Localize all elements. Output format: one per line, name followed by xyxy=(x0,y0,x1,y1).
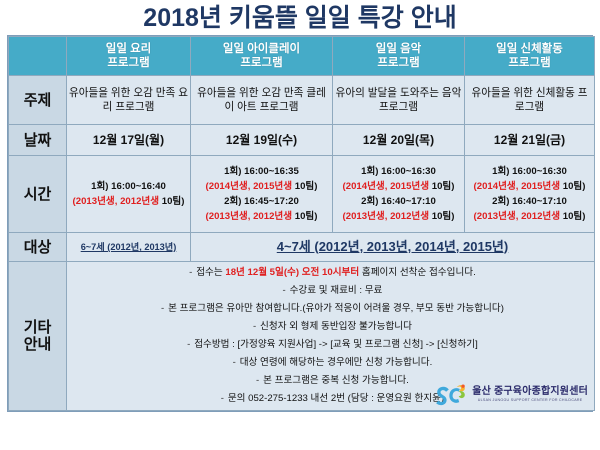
time-age-line: (2013년생, 2012년생 10팀) xyxy=(69,194,188,209)
date-cell-physical: 12월 21일(금) xyxy=(465,125,595,156)
program-table: 일일 요리 프로그램 일일 아이클레이 프로그램 일일 음악 프로그램 일일 신… xyxy=(8,36,595,411)
header-column-music: 일일 음악 프로그램 xyxy=(333,37,465,76)
time-age-text: (2014년생, 2015년생 xyxy=(343,181,430,192)
program-announcement-page: 2018년 키움뜰 일일 특강 안내 일일 요리 프로그램 일일 아이클 xyxy=(0,0,600,450)
date-cell-iclay: 12월 19일(수) xyxy=(191,125,333,156)
note-text: 문의 052-275-1233 내선 2번 (담당 : 운영요원 한지윤) xyxy=(228,393,444,404)
time-team-text: 10팀) xyxy=(563,181,586,192)
time-age-text: (2013년생, 2012년생 xyxy=(343,211,430,222)
header-col4-line2: 프로그램 xyxy=(467,56,592,70)
header-column-physical: 일일 신체활동 프로그램 xyxy=(465,37,595,76)
time-session-line: 2회) 16:40~17:10 xyxy=(335,194,462,209)
table-row-date: 날짜 12월 17일(월) 12월 19일(수) 12월 20일(목) 12월 … xyxy=(9,125,595,156)
time-session-line: 2회) 16:40~17:10 xyxy=(467,194,592,209)
target-age-merged: 4~7세 (2012년, 2013년, 2014년, 2015년) xyxy=(277,239,508,254)
topic-cell-cooking: 유아들을 위한 오감 만족 요리 프로그램 xyxy=(67,76,191,125)
time-age-text: (2013년생, 2012년생 xyxy=(206,211,293,222)
row-label-date: 날짜 xyxy=(9,125,67,156)
bullet-dash-icon: - xyxy=(249,318,260,336)
target-age-cooking: 6~7세 (2012년, 2013년) xyxy=(81,242,177,252)
time-age-line: (2013년생, 2012년생 10팀) xyxy=(193,209,330,224)
time-team-text: 10팀) xyxy=(295,211,318,222)
note-text: 본 프로그램은 유아만 참여합니다.(유아가 적응이 어려울 경우, 부모 동반… xyxy=(168,303,504,314)
bullet-dash-icon: - xyxy=(185,264,196,282)
note-item-how-to-apply: -접수방법 : [가정양육 지원사업] -> [교육 및 프로그램 신청] ->… xyxy=(69,336,592,354)
row-label-notes: 기타 안내 xyxy=(9,262,67,411)
table-header: 일일 요리 프로그램 일일 아이클레이 프로그램 일일 음악 프로그램 일일 신… xyxy=(9,37,595,76)
time-age-line: (2014년생, 2015년생 10팀) xyxy=(335,179,462,194)
time-session-line: 1회) 16:00~16:40 xyxy=(69,179,188,194)
organization-logo: 울산 중구육아종합지원센터 ULSAN JUNGGU SUPPORT CENTE… xyxy=(434,384,588,406)
header-col3-line1: 일일 음악 xyxy=(335,42,462,56)
bullet-dash-icon: - xyxy=(183,336,194,354)
row-label-topic: 주제 xyxy=(9,76,67,125)
note-text: 접수방법 : [가정양육 지원사업] -> [교육 및 프로그램 신청] -> … xyxy=(194,339,478,350)
notes-cell: -접수는 18년 12월 5일(수) 오전 10시부터 홈페이지 선착순 접수입… xyxy=(67,262,595,411)
time-age-line: (2013년생, 2012년생 10팀) xyxy=(467,209,592,224)
time-cell-iclay: 1회) 16:00~16:35 (2014년생, 2015년생 10팀) 2회)… xyxy=(191,156,333,233)
time-team-text: 10팀) xyxy=(432,211,455,222)
header-col1-line1: 일일 요리 xyxy=(69,42,188,56)
note-item-participation: -본 프로그램은 유아만 참여합니다.(유아가 적응이 어려울 경우, 부모 동… xyxy=(69,300,592,318)
note-item-age-eligibility: -대상 연령에 해당하는 경우에만 신청 가능합니다. xyxy=(69,354,592,372)
note-after: 홈페이지 선착순 접수입니다. xyxy=(359,267,476,278)
logo-korean-name: 울산 중구육아종합지원센터 xyxy=(472,387,588,397)
header-corner-cell xyxy=(9,37,67,76)
note-text: 대상 연령에 해당하는 경우에만 신청 가능합니다. xyxy=(240,357,433,368)
topic-cell-physical: 유아들을 위한 신체활동 프로그램 xyxy=(465,76,595,125)
header-col1-line2: 프로그램 xyxy=(69,56,188,70)
time-session-line: 1회) 16:00~16:30 xyxy=(335,164,462,179)
time-age-line: (2014년생, 2015년생 10팀) xyxy=(467,179,592,194)
target-cell-cooking: 6~7세 (2012년, 2013년) xyxy=(67,233,191,262)
logo-english-name: ULSAN JUNGGU SUPPORT CENTER FOR CHILDCAR… xyxy=(472,399,588,403)
row-label-notes-line1: 기타 xyxy=(11,319,64,336)
topic-cell-iclay: 유아들을 위한 오감 만족 클레이 아트 프로그램 xyxy=(191,76,333,125)
logo-text-block: 울산 중구육아종합지원센터 ULSAN JUNGGU SUPPORT CENTE… xyxy=(472,387,588,403)
header-col2-line1: 일일 아이클레이 xyxy=(193,42,330,56)
time-age-line: (2014년생, 2015년생 10팀) xyxy=(193,179,330,194)
time-age-text: (2014년생, 2015년생 xyxy=(206,181,293,192)
target-cell-merged: 4~7세 (2012년, 2013년, 2014년, 2015년) xyxy=(191,233,595,262)
time-age-line: (2013년생, 2012년생 10팀) xyxy=(335,209,462,224)
note-text: 신청자 외 형제 동반입장 불가능합니다 xyxy=(260,321,412,332)
note-text: 본 프로그램은 중복 신청 가능합니다. xyxy=(263,375,409,386)
time-session-line: 2회) 16:45~17:20 xyxy=(193,194,330,209)
header-column-cooking: 일일 요리 프로그램 xyxy=(67,37,191,76)
header-column-iclay: 일일 아이클레이 프로그램 xyxy=(191,37,333,76)
time-session-line: 1회) 16:00~16:35 xyxy=(193,164,330,179)
page-title: 2018년 키움뜰 일일 특강 안내 xyxy=(0,0,600,35)
row-label-target: 대상 xyxy=(9,233,67,262)
note-before: 접수는 xyxy=(196,267,225,278)
time-cell-cooking: 1회) 16:00~16:40 (2013년생, 2012년생 10팀) xyxy=(67,156,191,233)
table-row-notes: 기타 안내 -접수는 18년 12월 5일(수) 오전 10시부터 홈페이지 선… xyxy=(9,262,595,411)
row-label-time: 시간 xyxy=(9,156,67,233)
time-age-text: (2014년생, 2015년생 xyxy=(474,181,561,192)
bullet-dash-icon: - xyxy=(157,300,168,318)
row-label-notes-line2: 안내 xyxy=(11,336,64,353)
table-body: 주제 유아들을 위한 오감 만족 요리 프로그램 유아들을 위한 오감 만족 클… xyxy=(9,76,595,411)
time-team-text: 10팀) xyxy=(295,181,318,192)
bullet-dash-icon: - xyxy=(217,390,228,408)
note-item-fee: -수강료 및 재료비 : 무료 xyxy=(69,282,592,300)
header-col3-line2: 프로그램 xyxy=(335,56,462,70)
date-cell-music: 12월 20일(목) xyxy=(333,125,465,156)
program-table-wrapper: 일일 요리 프로그램 일일 아이클레이 프로그램 일일 음악 프로그램 일일 신… xyxy=(7,35,593,412)
table-row-target: 대상 6~7세 (2012년, 2013년) 4~7세 (2012년, 2013… xyxy=(9,233,595,262)
header-col4-line1: 일일 신체활동 xyxy=(467,42,592,56)
time-team-text: 10팀) xyxy=(432,181,455,192)
bullet-dash-icon: - xyxy=(279,282,290,300)
header-col2-line2: 프로그램 xyxy=(193,56,330,70)
date-cell-cooking: 12월 17일(월) xyxy=(67,125,191,156)
time-cell-music: 1회) 16:00~16:30 (2014년생, 2015년생 10팀) 2회)… xyxy=(333,156,465,233)
time-age-text: (2013년생, 2012년생 xyxy=(73,196,160,207)
note-highlight: 18년 12월 5일(수) 오전 10시부터 xyxy=(225,267,359,278)
time-team-text: 10팀) xyxy=(563,211,586,222)
time-age-text: (2013년생, 2012년생 xyxy=(474,211,561,222)
header-row: 일일 요리 프로그램 일일 아이클레이 프로그램 일일 음악 프로그램 일일 신… xyxy=(9,37,595,76)
table-row-topic: 주제 유아들을 위한 오감 만족 요리 프로그램 유아들을 위한 오감 만족 클… xyxy=(9,76,595,125)
bullet-dash-icon: - xyxy=(229,354,240,372)
note-item-sibling: -신청자 외 형제 동반입장 불가능합니다 xyxy=(69,318,592,336)
time-team-text: 10팀) xyxy=(162,196,185,207)
time-session-line: 1회) 16:00~16:30 xyxy=(467,164,592,179)
note-item-application-open: -접수는 18년 12월 5일(수) 오전 10시부터 홈페이지 선착순 접수입… xyxy=(69,264,592,282)
note-text: 수강료 및 재료비 : 무료 xyxy=(290,285,383,296)
bullet-dash-icon: - xyxy=(252,372,263,390)
time-cell-physical: 1회) 16:00~16:30 (2014년생, 2015년생 10팀) 2회)… xyxy=(465,156,595,233)
sc-swirl-icon xyxy=(434,384,468,406)
table-row-time: 시간 1회) 16:00~16:40 (2013년생, 2012년생 10팀) … xyxy=(9,156,595,233)
topic-cell-music: 유아의 발달을 도와주는 음악 프로그램 xyxy=(333,76,465,125)
